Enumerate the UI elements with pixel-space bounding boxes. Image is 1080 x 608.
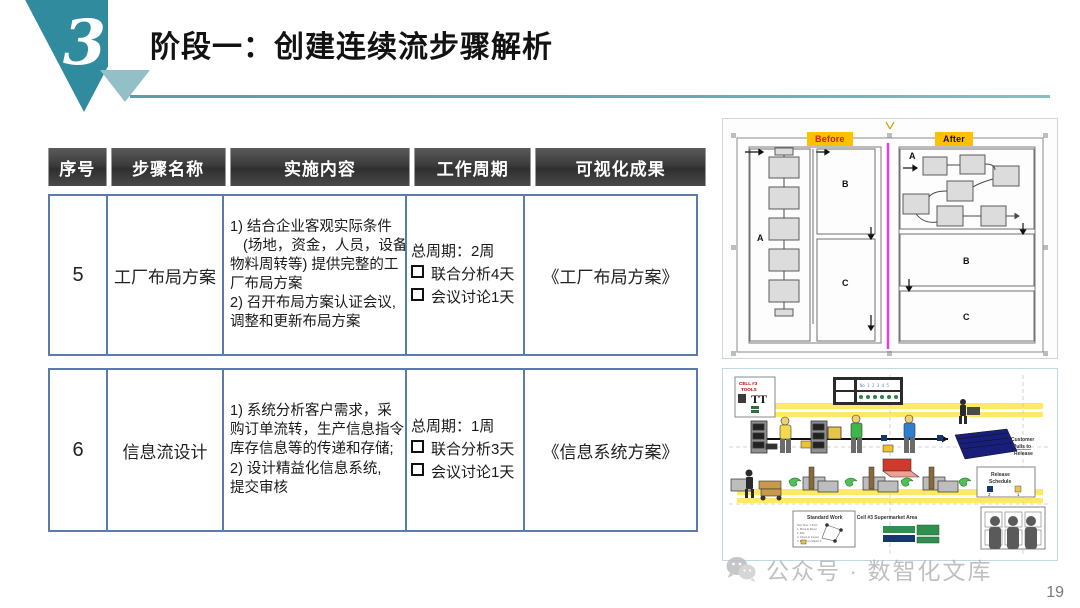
svg-text:C: C — [963, 312, 970, 322]
before-label: Before — [807, 132, 853, 146]
table-header-row: 序号 步骤名称 实施内容 工作周期 可视化成果 — [48, 148, 706, 186]
information-flow-figure[interactable]: CELL #3 TOOLS TT No 1 2 3 4 5 — [722, 368, 1058, 561]
content-line: 提交审核 — [230, 479, 401, 498]
cell-result: 《信息系统方案》 — [523, 368, 698, 532]
cell-no: 6 — [48, 368, 108, 532]
svg-text:Pulls to: Pulls to — [1013, 444, 1031, 450]
svg-text:Schedule: Schedule — [989, 479, 1011, 485]
svg-text:Cell #3 Supermarket Area: Cell #3 Supermarket Area — [857, 515, 918, 521]
svg-text:3. Check to inspect: 3. Check to inspect — [797, 535, 819, 539]
cycle-item-label: 会议讨论1天 — [431, 462, 514, 484]
content-line: 2) 设计精益化信息系统, — [230, 460, 401, 479]
cycle-total: 总周期：1周 — [411, 416, 514, 438]
column-header-content: 实施内容 — [230, 148, 410, 186]
cell-content: 1) 结合企业客观实际条件 (场地，资金，人员，设备 物料周转等) 提供完整的工… — [222, 194, 407, 356]
watermark-text: 公众号 · 数智化文库 — [766, 552, 992, 586]
value-stream-map-diagram: CELL #3 TOOLS TT No 1 2 3 4 5 — [723, 369, 1057, 560]
content-line: 1) 系统分析客户需求，采 — [230, 402, 401, 421]
checkbox-icon[interactable] — [411, 288, 424, 301]
cell-name: 信息流设计 — [106, 368, 224, 532]
cycle-total: 总周期：2周 — [411, 241, 514, 263]
svg-text:4. Return to Station 1: 4. Return to Station 1 — [797, 539, 822, 543]
cycle-checklist-item: 联合分析3天 — [411, 439, 514, 461]
table-row: 5 工厂布局方案 1) 结合企业客观实际条件 (场地，资金，人员，设备 物料周转… — [48, 194, 706, 356]
cell-result: 《工厂布局方案》 — [523, 194, 698, 356]
table-body: 5 工厂布局方案 1) 结合企业客观实际条件 (场地，资金，人员，设备 物料周转… — [48, 194, 706, 532]
column-header-cycle: 工作周期 — [414, 148, 531, 186]
svg-text:TT: TT — [751, 392, 767, 406]
after-label: After — [935, 132, 973, 146]
svg-text:A: A — [757, 233, 764, 243]
checkbox-icon[interactable] — [411, 440, 424, 453]
svg-text:Customer: Customer — [1011, 437, 1034, 443]
watermark: 公众号 · 数智化文库 — [726, 548, 1056, 590]
cell-content: 1) 系统分析客户需求，采 购订单流转，生产信息指令 库存信息等的传递和存储; … — [222, 368, 407, 532]
svg-text:CELL #3: CELL #3 — [739, 381, 758, 386]
cycle-checklist-item: 联合分析4天 — [411, 264, 514, 286]
column-header-name: 步骤名称 — [111, 148, 226, 186]
cycle-item-label: 联合分析3天 — [431, 439, 514, 461]
content-line: 物料周转等) 提供完整的工 — [230, 256, 401, 275]
wechat-icon — [726, 556, 756, 582]
cycle-checklist-item: 会议讨论1天 — [411, 462, 514, 484]
cycle-item-label: 联合分析4天 — [431, 264, 514, 286]
steps-table: 序号 步骤名称 实施内容 工作周期 可视化成果 5 工厂布局方案 1) 结合企业… — [48, 148, 706, 532]
page-title: 阶段一：创建连续流步骤解析 — [150, 22, 553, 66]
svg-text:C: C — [842, 278, 849, 288]
svg-text:B: B — [963, 256, 970, 266]
svg-text:B: B — [842, 179, 849, 189]
svg-text:2. Drill: 2. Drill — [797, 531, 805, 535]
cycle-item-label: 会议讨论1天 — [431, 287, 514, 309]
content-line: 厂布局方案 — [230, 275, 401, 294]
factory-layout-diagram: A B C — [723, 119, 1057, 358]
content-line: 库存信息等的传递和存储; — [230, 440, 401, 459]
table-row: 6 信息流设计 1) 系统分析客户需求，采 购订单流转，生产信息指令 库存信息等… — [48, 368, 706, 532]
cell-name: 工厂布局方案 — [106, 194, 224, 356]
svg-text:A: A — [909, 151, 916, 161]
column-header-no: 序号 — [48, 148, 107, 186]
cell-cycle: 总周期：1周 联合分析3天 会议讨论1天 — [405, 368, 525, 532]
content-line: (场地，资金，人员，设备 — [230, 237, 401, 256]
content-line: 购订单流转，生产信息指令 — [230, 421, 401, 440]
svg-text:Release: Release — [991, 472, 1010, 478]
svg-text:1. Move to Panel: 1. Move to Panel — [797, 527, 817, 531]
content-line: 2) 召开布局方案认证会议, — [230, 294, 401, 313]
svg-text:Standard Work: Standard Work — [807, 515, 843, 521]
svg-text:Release: Release — [1014, 451, 1033, 457]
svg-text:No 1 2 3 4 5: No 1 2 3 4 5 — [860, 383, 889, 388]
cell-no: 5 — [48, 194, 108, 356]
checkbox-icon[interactable] — [411, 265, 424, 278]
title-divider — [130, 95, 1050, 98]
slide-header: 3 阶段一：创建连续流步骤解析 — [0, 0, 1080, 112]
factory-layout-figure[interactable]: A B C — [722, 118, 1058, 359]
column-header-result: 可视化成果 — [535, 148, 706, 186]
cell-cycle: 总周期：2周 联合分析4天 会议讨论1天 — [405, 194, 525, 356]
svg-text:Tact Time: 1 5min: Tact Time: 1 5min — [797, 523, 818, 527]
content-line: 调整和更新布局方案 — [230, 313, 401, 332]
content-line: 1) 结合企业客观实际条件 — [230, 218, 401, 237]
cycle-checklist-item: 会议讨论1天 — [411, 287, 514, 309]
page-number: 19 — [1046, 584, 1064, 602]
checkbox-icon[interactable] — [411, 463, 424, 476]
